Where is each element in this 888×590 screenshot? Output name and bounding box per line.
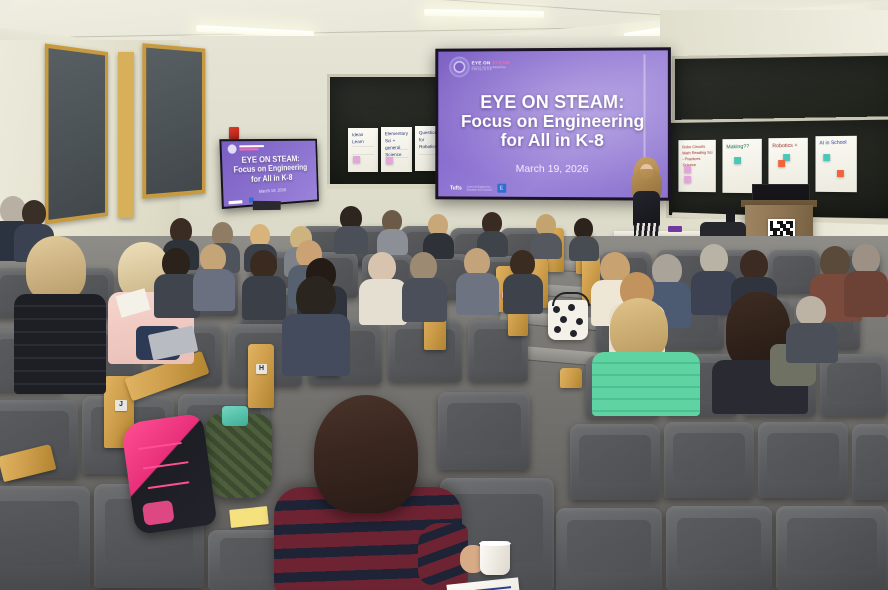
footer-sub-line2: Education and Outreach <box>467 188 492 191</box>
flip-chart-heading: Robotics + <box>772 142 805 151</box>
presenter-torso <box>633 191 660 227</box>
row-label-h: H <box>256 364 267 374</box>
sticky-note <box>734 157 741 164</box>
monitor-stand <box>253 201 281 210</box>
seat[interactable] <box>758 422 848 498</box>
sticky-note <box>684 176 691 183</box>
sticky-note <box>837 170 844 177</box>
seat[interactable] <box>820 354 888 416</box>
eye-on-steam-logo: EYE ON STEAM FOCUS ON ENGINEERING FOR AL… <box>451 58 510 75</box>
flip-chart: Robo Circuits Math Reading Sci - Practic… <box>678 140 715 192</box>
tote-bag <box>548 300 588 340</box>
tote-handle <box>552 292 590 306</box>
seat[interactable] <box>556 508 662 590</box>
seat[interactable] <box>852 424 888 500</box>
backpack-pocket <box>142 500 175 526</box>
flip-chart-heading: Elementary Sci + general Science <box>385 131 410 159</box>
slide-title: EYE ON STEAM: Focus on Engineering for A… <box>438 93 668 151</box>
wall-panel-edge <box>118 52 134 218</box>
gear-eye-icon <box>228 144 237 154</box>
tufts-wordmark: Tufts <box>450 185 462 191</box>
row-label-j: J <box>115 400 127 411</box>
flip-chart-heading: Making?? <box>726 143 759 152</box>
logo-line3: FOR ALL IN K-8 <box>472 69 510 72</box>
sticky-note <box>684 166 691 173</box>
confidence-monitor: EYE ON STEAM: Focus on Engineering for A… <box>219 139 319 209</box>
flip-chart: Elementary Sci + general Science <box>381 127 412 172</box>
flip-chart: AI in School <box>815 136 856 192</box>
fire-alarm-pull-station <box>229 127 239 139</box>
seat[interactable] <box>0 486 90 590</box>
flip-chart: Ideas Learn <box>348 128 378 172</box>
sticky-note <box>823 154 830 161</box>
flip-chart-heading: Ideas Learn <box>352 132 375 146</box>
wall-panel <box>142 43 205 199</box>
travel-cup <box>222 406 248 426</box>
lecture-hall-photo: Ideas Learn Elementary Sci + general Sci… <box>0 0 888 590</box>
item-on-table <box>668 226 682 232</box>
seat[interactable] <box>666 506 772 590</box>
slide-title-line3: for All in K-8 <box>438 131 668 151</box>
seat[interactable] <box>776 506 888 590</box>
slide-title-line2: Focus on Engineering <box>438 112 668 131</box>
seat[interactable] <box>570 424 660 500</box>
slide-footer: Tufts Center for Engineering Education a… <box>450 184 506 193</box>
desk-surface <box>560 368 582 388</box>
sticky-note <box>778 160 785 167</box>
wall-panel <box>45 43 108 224</box>
sticky-note <box>386 157 393 164</box>
attendee-hair <box>314 395 418 513</box>
paper-coffee-cup <box>480 541 510 575</box>
sticky-note <box>353 156 360 163</box>
ceeo-badge-icon: E <box>497 184 506 193</box>
foreground-attendee <box>268 395 468 590</box>
flip-chart-heading: AI in School <box>819 139 854 148</box>
logo-line1b: STEAM <box>492 60 509 65</box>
flip-chart-heading: Robo Circuits Math Reading Sci - Practic… <box>682 144 713 168</box>
confidence-monitor-slide: EYE ON STEAM: Focus on Engineering for A… <box>221 141 317 207</box>
knit-bag <box>206 414 272 498</box>
backpack <box>121 413 218 535</box>
logo-line1a: EYE ON <box>472 60 492 65</box>
seat[interactable] <box>664 422 754 498</box>
monitor-date: March 19, 2026 <box>223 185 317 196</box>
slide-title-line1: EYE ON STEAM: <box>438 93 668 112</box>
gear-eye-icon <box>451 58 468 75</box>
